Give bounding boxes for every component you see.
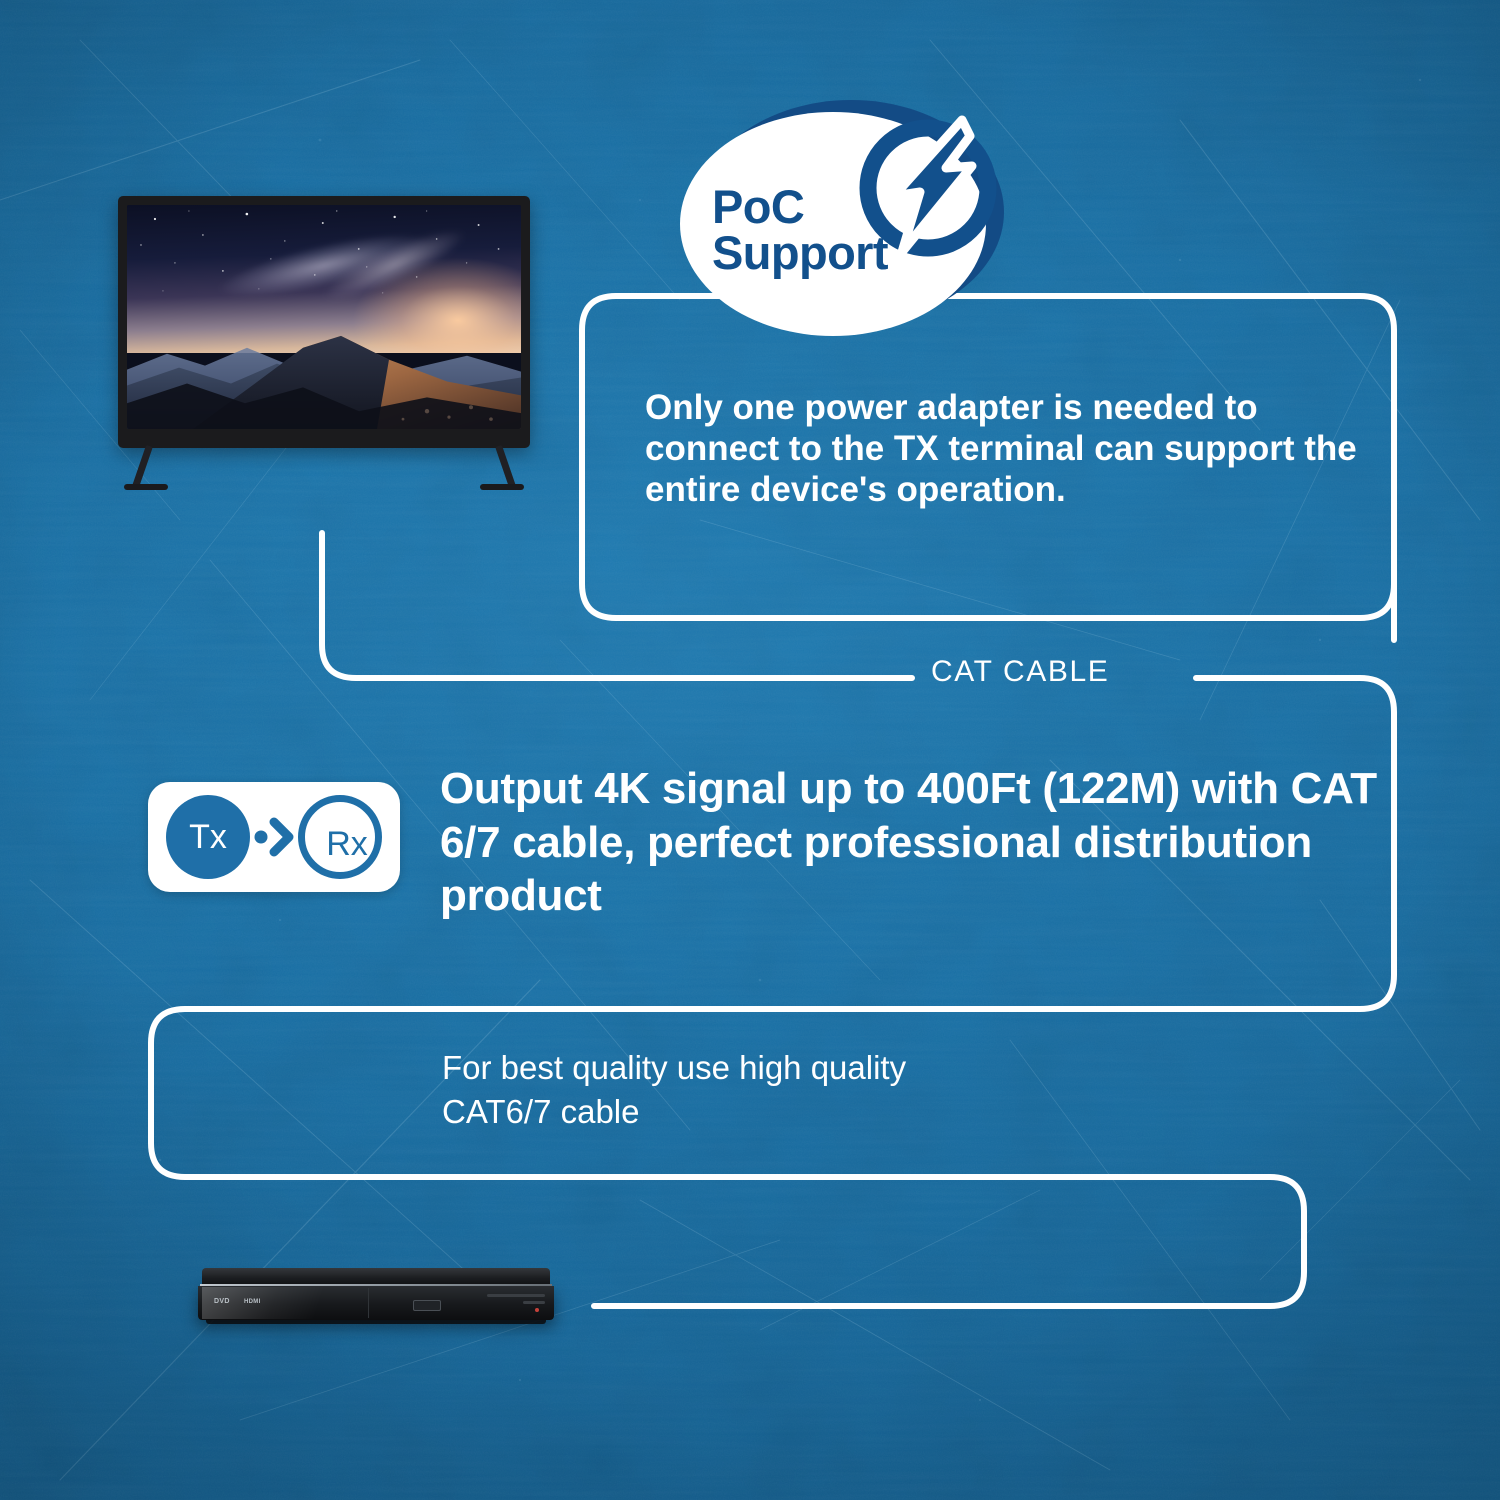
tv-foot-right [480,484,524,490]
rx-circle: Rx [298,795,382,879]
tx-label: Tx [166,795,250,879]
headline-text: Output 4K signal up to 400Ft (122M) with… [440,762,1400,923]
hdmi-logo-text: HDMI [244,1299,261,1305]
infographic-canvas: PoC Support Only one power adapter is ne… [0,0,1500,1500]
tv-screen-mountains [127,326,521,429]
callout-bottom-line1: For best quality use high quality [442,1046,1142,1090]
callout-bottom-text: For best quality use high quality CAT6/7… [442,1046,1142,1133]
dvd-player-faceplate: DVD HDMI [198,1286,554,1320]
tv-stand [118,446,530,486]
dvd-player-tray [368,1288,555,1318]
cat-cable-label: CAT CABLE [931,655,1109,689]
dvd-player-usb-port [413,1300,441,1311]
tv-foot-left [124,484,168,490]
tv-bezel [118,196,530,448]
dvd-player: DVD HDMI [196,1268,556,1328]
dvd-player-top [202,1268,550,1285]
rx-label: Rx [305,802,389,886]
callout-top-text: Only one power adapter is needed to conn… [645,388,1385,511]
tv-leg-right [495,445,516,489]
dvd-player-power-led [535,1308,539,1312]
television [118,196,530,486]
tv-screen [127,205,521,429]
dvd-player-button-bar [487,1294,545,1297]
lightning-bolt-in-circle-icon [850,106,1010,266]
poc-support-badge: PoC Support [676,96,1036,354]
dvd-logo-text: DVD [214,1298,230,1305]
tv-leg-left [132,445,153,489]
callout-bottom-line2: CAT6/7 cable [442,1090,1142,1134]
dvd-player-base [206,1320,546,1324]
dvd-player-button-bar-2 [523,1301,545,1304]
double-chevron-arrow-icon [254,816,298,858]
tx-circle: Tx [166,795,250,879]
tx-rx-badge: Tx Rx [148,782,400,892]
